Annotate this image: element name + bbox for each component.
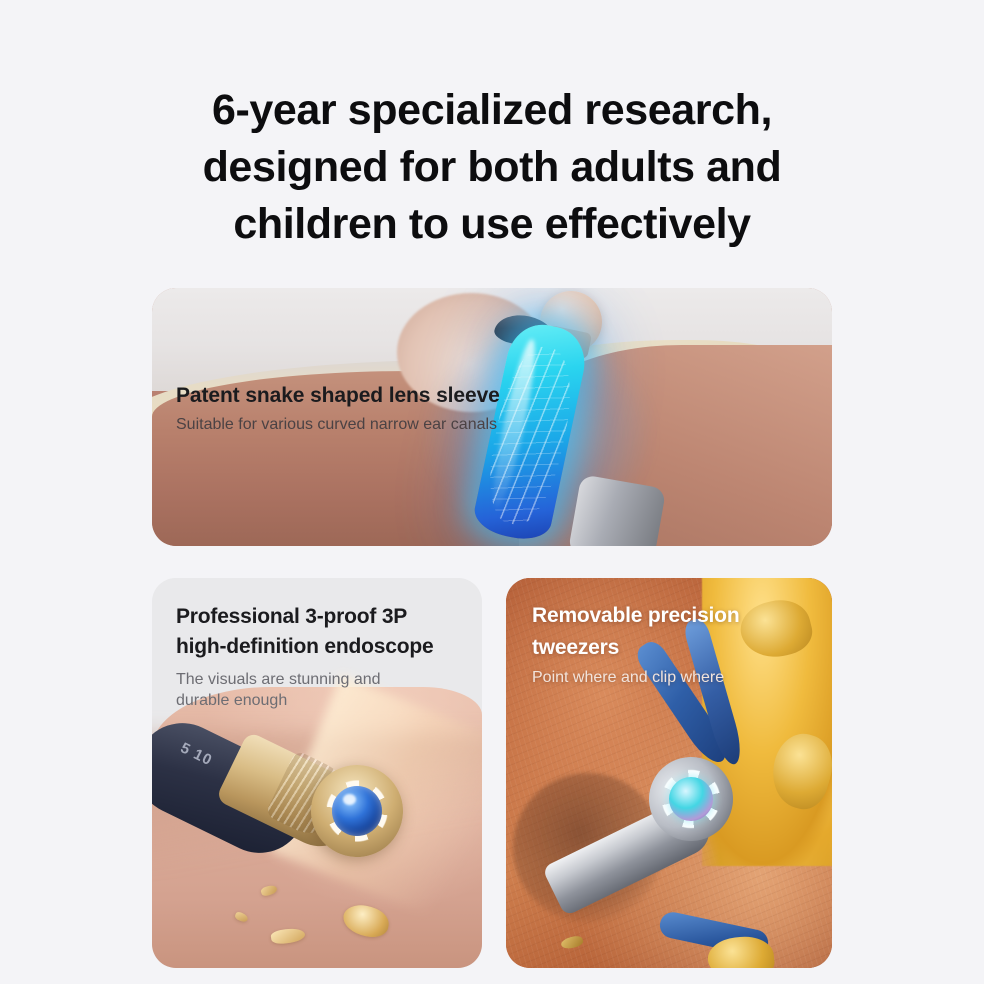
card-endoscope-subtitle-line-1: The visuals are stunning and xyxy=(176,671,381,688)
illustration-camera-lens xyxy=(669,777,713,821)
card-tweezers-title-line-2: tweezers xyxy=(532,636,619,659)
headline-line-2: designed for both adults and xyxy=(0,139,984,196)
headline-line-1: 6-year specialized research, xyxy=(0,82,984,139)
card-endoscope-subtitle-line-2: durable enough xyxy=(176,692,287,709)
product-feature-page: 6-year specialized research, designed fo… xyxy=(0,0,984,984)
feature-card-snake-lens-sleeve[interactable]: Patent snake shaped lens sleeve Suitable… xyxy=(152,288,832,546)
card-snake-title: Patent snake shaped lens sleeve xyxy=(176,384,596,408)
card-endoscope-subtitle: The visuals are stunning and durable eno… xyxy=(176,669,466,712)
card-endoscope-title-line-1: Professional 3-proof 3P xyxy=(176,605,407,628)
card-endoscope-title: Professional 3-proof 3P high-definition … xyxy=(176,602,466,663)
card-tweezers-title-line-1: Removable precision xyxy=(532,604,739,627)
headline-line-3: children to use effectively xyxy=(0,196,984,253)
card-snake-subtitle: Suitable for various curved narrow ear c… xyxy=(176,416,596,434)
page-title: 6-year specialized research, designed fo… xyxy=(0,82,984,254)
card-snake-text-block: Patent snake shaped lens sleeve Suitable… xyxy=(176,384,596,434)
card-tweezers-subtitle: Point where and clip where xyxy=(532,667,812,689)
illustration-camera-lens xyxy=(332,786,382,836)
feature-card-precision-tweezers[interactable]: Removable precision tweezers Point where… xyxy=(506,578,832,968)
feature-card-hd-endoscope[interactable]: 5 10 Professional 3-proof 3P high-defini… xyxy=(152,578,482,968)
card-endoscope-text-block: Professional 3-proof 3P high-definition … xyxy=(176,602,466,712)
card-tweezers-title: Removable precision tweezers xyxy=(532,600,812,663)
card-endoscope-title-line-2: high-definition endoscope xyxy=(176,635,433,658)
card-tweezers-text-block: Removable precision tweezers Point where… xyxy=(532,600,812,689)
